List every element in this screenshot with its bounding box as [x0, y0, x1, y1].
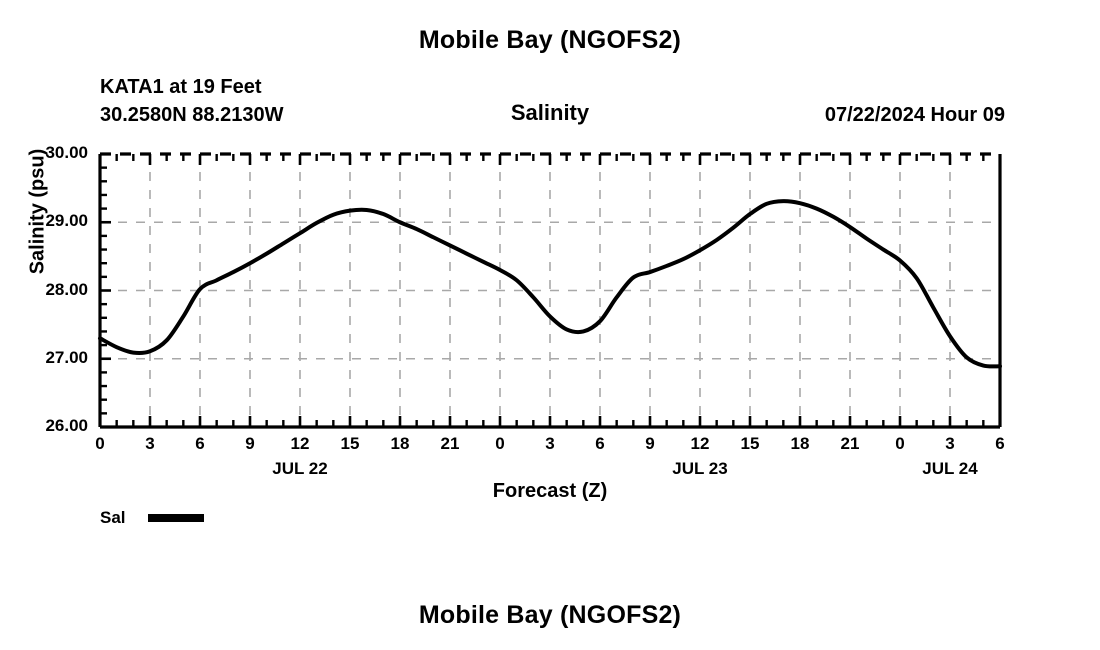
x-tick-label: 15 — [330, 434, 370, 454]
page-title-bottom: Mobile Bay (NGOFS2) — [0, 601, 1100, 630]
x-tick-label: 9 — [630, 434, 670, 454]
day-label: JUL 24 — [890, 459, 1010, 479]
x-tick-label: 6 — [580, 434, 620, 454]
x-tick-label: 21 — [830, 434, 870, 454]
x-axis-label: Forecast (Z) — [0, 480, 1100, 503]
x-tick-label: 12 — [680, 434, 720, 454]
x-tick-label: 6 — [180, 434, 220, 454]
x-tick-label: 9 — [230, 434, 270, 454]
x-tick-label: 3 — [930, 434, 970, 454]
legend: Sal — [100, 508, 204, 528]
x-tick-label: 0 — [80, 434, 120, 454]
x-tick-label: 0 — [880, 434, 920, 454]
legend-label-sal: Sal — [100, 508, 126, 528]
x-tick-label: 0 — [480, 434, 520, 454]
day-label: JUL 22 — [240, 459, 360, 479]
grid-lines — [100, 154, 1000, 427]
x-tick-label: 3 — [130, 434, 170, 454]
x-tick-label: 15 — [730, 434, 770, 454]
day-label: JUL 23 — [640, 459, 760, 479]
chart-canvas: Mobile Bay (NGOFS2) KATA1 at 19 Feet 30.… — [0, 0, 1100, 650]
x-tick-label: 21 — [430, 434, 470, 454]
x-tick-label: 12 — [280, 434, 320, 454]
y-tick-label: 28.00 — [14, 280, 88, 300]
y-tick-label: 27.00 — [14, 348, 88, 368]
y-tick-label: 26.00 — [14, 416, 88, 436]
x-tick-label: 6 — [980, 434, 1020, 454]
x-tick-label: 3 — [530, 434, 570, 454]
plot-area — [0, 0, 1100, 650]
x-tick-label: 18 — [380, 434, 420, 454]
y-tick-label: 30.00 — [14, 143, 88, 163]
y-tick-label: 29.00 — [14, 211, 88, 231]
x-tick-label: 18 — [780, 434, 820, 454]
legend-swatch-sal — [148, 514, 204, 522]
